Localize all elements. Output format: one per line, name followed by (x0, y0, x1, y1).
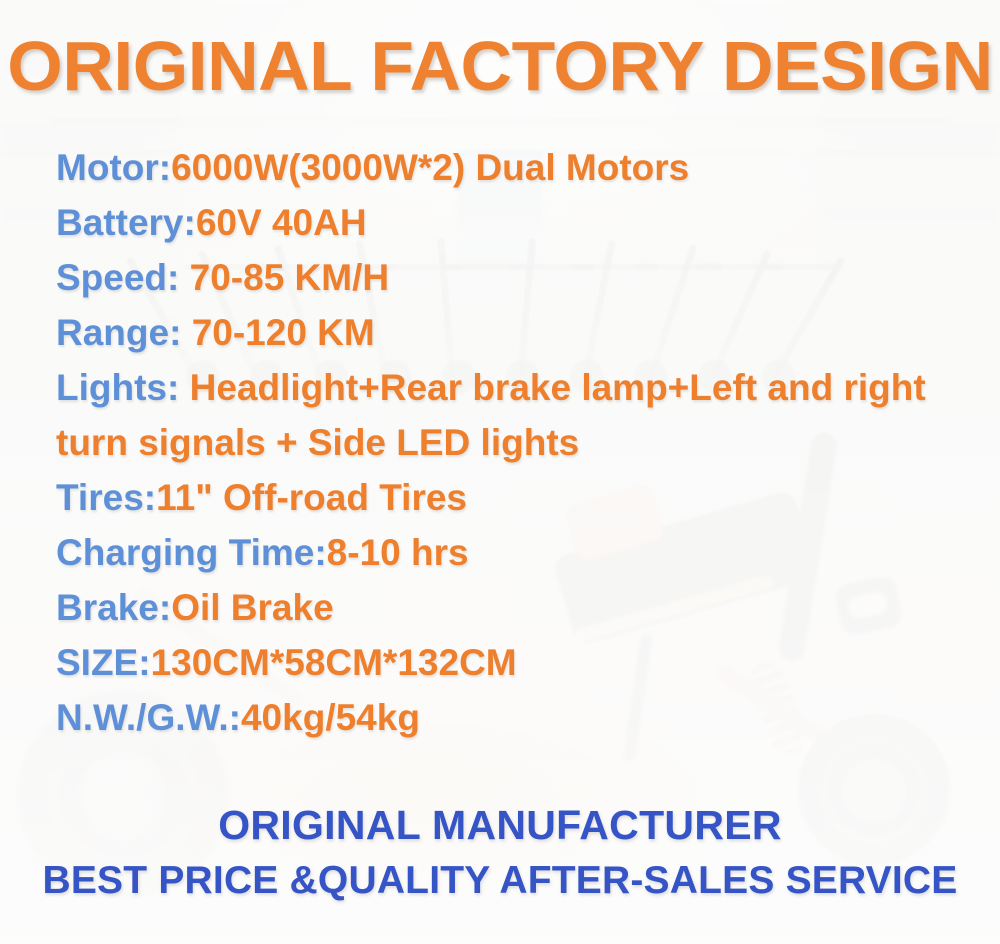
spec-label: Motor: (56, 147, 171, 188)
spec-label: Range: (56, 312, 192, 353)
spec-value: 40kg/54kg (241, 697, 420, 738)
spec-value: 70-85 KM/H (190, 257, 389, 298)
spec-label: Brake: (56, 587, 171, 628)
spec-row: Brake:Oil Brake (56, 580, 962, 635)
spec-label: Lights: (56, 367, 190, 408)
page-title: ORIGINAL FACTORY DESIGN (0, 31, 1000, 101)
product-spec-poster: ORIGINAL FACTORY DESIGN Motor:6000W(3000… (0, 0, 1000, 944)
spec-row: Lights: Headlight+Rear brake lamp+Left a… (56, 360, 962, 470)
spec-value: 11" Off-road Tires (156, 477, 467, 518)
footer-line-primary: ORIGINAL MANUFACTURER (0, 796, 1000, 854)
spec-row: Charging Time:8-10 hrs (56, 525, 962, 580)
footer-line-secondary: BEST PRICE &QUALITY AFTER-SALES SERVICE (0, 854, 1000, 908)
spec-label: Speed: (56, 257, 190, 298)
spec-value: 60V 40AH (196, 202, 367, 243)
spec-label: SIZE: (56, 642, 151, 683)
spec-value: 6000W(3000W*2) Dual Motors (171, 147, 689, 188)
spec-value: 70-120 KM (192, 312, 375, 353)
spec-row: Range: 70-120 KM (56, 305, 962, 360)
spec-row: Motor:6000W(3000W*2) Dual Motors (56, 140, 962, 195)
spec-label: Tires: (56, 477, 156, 518)
spec-label: Battery: (56, 202, 196, 243)
spec-value: 130CM*58CM*132CM (151, 642, 517, 683)
spec-row: Speed: 70-85 KM/H (56, 250, 962, 305)
spec-row: SIZE:130CM*58CM*132CM (56, 635, 962, 690)
footer-tagline: ORIGINAL MANUFACTURER BEST PRICE &QUALIT… (0, 796, 1000, 908)
spec-row: N.W./G.W.:40kg/54kg (56, 690, 962, 745)
spec-row: Battery:60V 40AH (56, 195, 962, 250)
spec-label: N.W./G.W.: (56, 697, 241, 738)
spec-value: Oil Brake (171, 587, 333, 628)
spec-value: 8-10 hrs (327, 532, 469, 573)
spec-list: Motor:6000W(3000W*2) Dual Motors Battery… (56, 140, 962, 745)
spec-row: Tires:11" Off-road Tires (56, 470, 962, 525)
spec-label: Charging Time: (56, 532, 327, 573)
poster-content: ORIGINAL FACTORY DESIGN Motor:6000W(3000… (0, 0, 1000, 944)
